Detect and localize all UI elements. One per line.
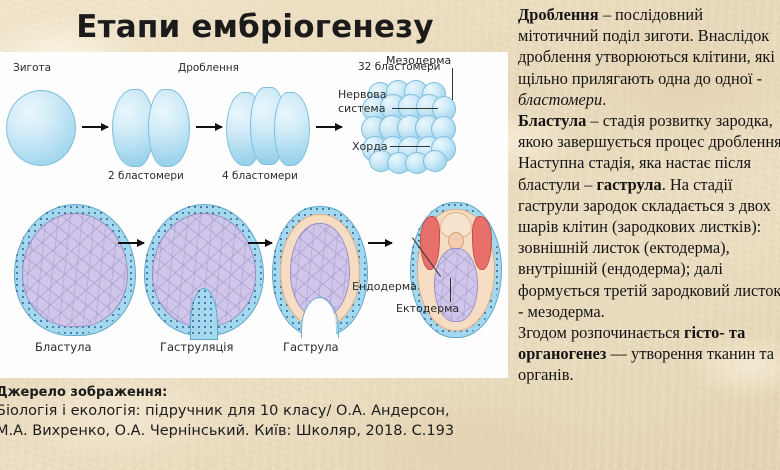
label-gastrulation: Гаструляція [160,340,233,354]
leader-ectoderm [450,278,451,302]
neurula-diagram [410,202,500,336]
arrow-3 [316,126,342,128]
paragraph-gastrula-body: . На стадії гаструли зародок складається… [518,175,780,321]
arrow-4 [118,242,144,244]
gastrula-diagram [272,206,366,334]
label-ectoderm: Ектодерма [396,302,459,315]
paragraph-cleavage: Дроблення – послідовний мітотичний поділ… [518,4,780,110]
page-title: Етапи ембріогенезу [0,2,510,52]
label-mesoderm: Мезодерма [386,54,451,67]
label-notochord: Хорда [352,140,388,153]
term-gastrula: гаструла [596,175,661,194]
label-gastrula: Гаструла [283,340,339,354]
blastomere-2-right [148,89,190,167]
leader-notochord [390,146,430,147]
explanatory-text-column: Дроблення – послідовний мітотичний поділ… [518,4,780,470]
embryogenesis-figure-panel: Зигота Дроблення 32 бластомери 2 бластом… [0,52,508,378]
arrow-6 [368,242,392,244]
paragraph-gastrula: Наступна стадія, яка настає після бласту… [518,152,780,322]
label-cleavage: Дроблення [178,62,239,74]
label-zygote: Зигота [13,62,51,74]
blastomere-4-c [274,92,310,166]
source-line-1: Біологія і екологія: підручник для 10 кл… [0,401,516,421]
image-source-caption: Джерело зображення: Біологія і екологія:… [0,384,516,441]
paragraph-cleavage-tail: . [602,90,606,109]
arrow-1 [82,126,108,128]
leader-nervous-system [392,108,438,109]
leader-mesoderm [452,68,453,100]
term-blastomeres: бластомери [518,90,602,109]
label-2-blastomeres: 2 бластомери [108,170,184,182]
blastula-diagram [14,204,134,334]
gastrulation-diagram [144,204,262,334]
source-line-2: М.А. Вихренко, О.А. Чернінський. Київ: Ш… [0,421,516,441]
zygote-cell [6,90,76,166]
arrow-2 [196,126,222,128]
term-cleavage: Дроблення [518,5,599,24]
paragraph-blastula: Бластула – стадія розвитку зародка, якою… [518,110,780,152]
paragraph-organogenesis-lead: Згодом розпочинається [518,323,684,342]
source-heading: Джерело зображення: [0,384,516,401]
label-4-blastomeres: 4 бластомери [222,170,298,182]
paragraph-organogenesis: Згодом розпочинається гісто- та органоге… [518,322,780,386]
label-blastula: Бластула [35,340,92,354]
label-endoderm: Ендодерма [352,280,417,293]
arrow-5 [248,242,272,244]
term-blastula: Бластула [518,111,586,130]
label-nervous-system-line1: Нервова [338,88,386,101]
label-nervous-system-line2: система [338,102,385,115]
